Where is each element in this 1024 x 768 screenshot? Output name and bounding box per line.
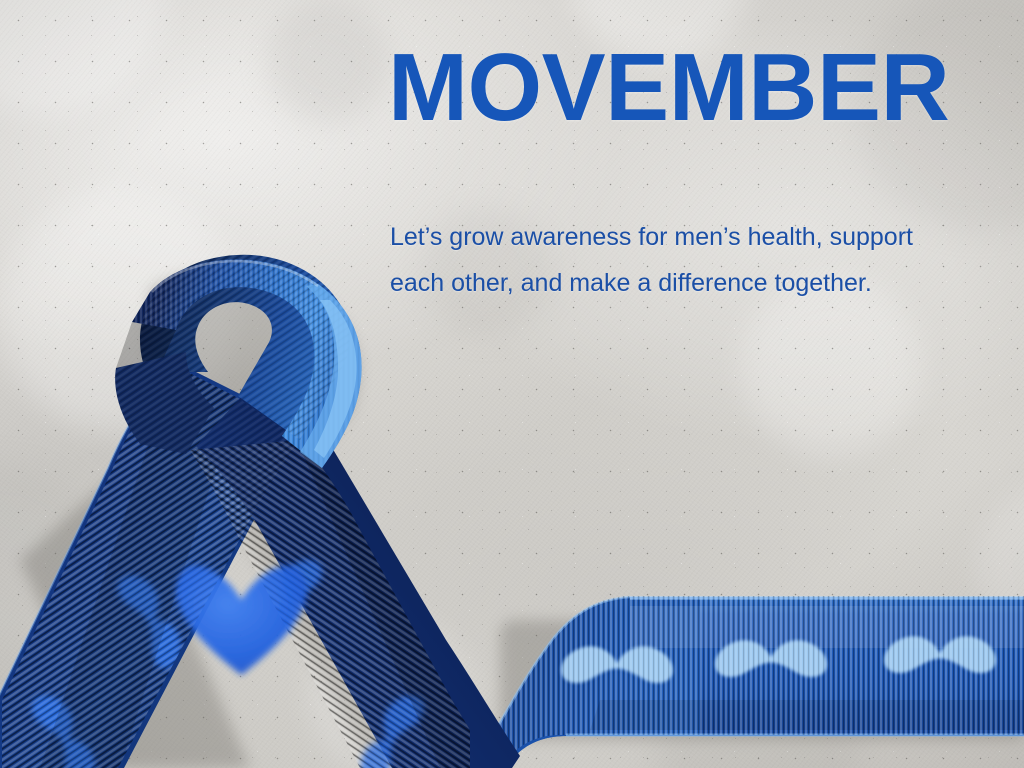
poster-subtitle: Let’s grow awareness for men’s health, s… bbox=[390, 214, 935, 307]
poster-text-block: MOVEMBER Let’s grow awareness for men’s … bbox=[388, 40, 988, 307]
movember-poster: MOVEMBER Let’s grow awareness for men’s … bbox=[0, 0, 1024, 768]
horizontal-ribbon-band bbox=[460, 585, 1024, 768]
page-title: MOVEMBER bbox=[388, 40, 988, 136]
mustache-motif-on-band bbox=[460, 585, 1024, 768]
